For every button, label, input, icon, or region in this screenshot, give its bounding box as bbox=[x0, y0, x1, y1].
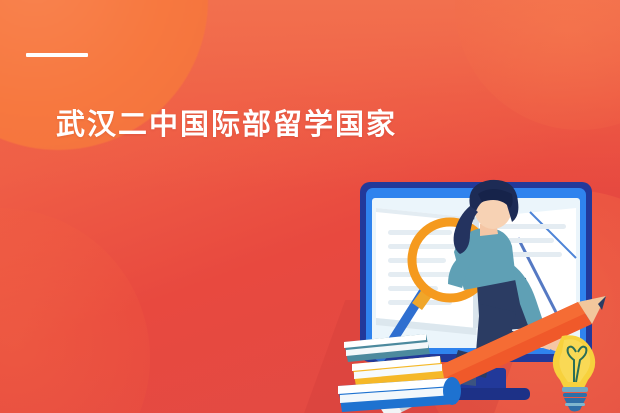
promo-banner: 武汉二中国际部留学国家 bbox=[0, 0, 620, 413]
lightbulb-icon bbox=[553, 335, 595, 411]
online-research-illustration bbox=[330, 172, 620, 413]
page-title: 武汉二中国际部留学国家 bbox=[56, 108, 397, 142]
accent-rule bbox=[26, 53, 88, 57]
